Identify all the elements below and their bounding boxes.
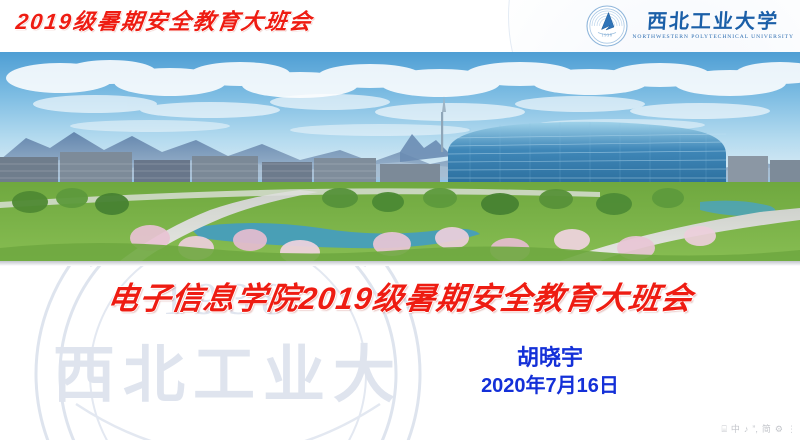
university-logo-text: 西北工业大学 NORTHWESTERN POLYTECHNICAL UNIVER… (634, 11, 792, 41)
svg-text:1938: 1938 (601, 32, 612, 37)
presentation-slide: 2019级暑期安全教育大班会 1938 西北工业大学 NORTHWESTERN … (0, 0, 800, 440)
ime-logo-icon[interactable]: ⌸ (721, 423, 726, 435)
ime-chinese-mode-icon[interactable]: 中 (731, 423, 740, 435)
ime-punctuation-icon[interactable]: ”, (752, 423, 758, 435)
svg-text:西北工业大: 西北工业大 (53, 342, 403, 410)
header-title: 2019级暑期安全教育大班会 (14, 7, 315, 37)
ime-tone-icon[interactable]: ♪ (744, 423, 749, 435)
university-name-cn: 西北工业大学 (646, 11, 780, 33)
ime-simplified-icon[interactable]: 简 (762, 423, 771, 435)
campus-panorama-photo (0, 52, 800, 261)
presenter-name: 胡晓宇 (400, 344, 700, 372)
slide-header: 2019级暑期安全教育大班会 1938 西北工业大学 NORTHWESTERN … (0, 0, 800, 52)
nwpu-seal-emblem-icon: 1938 (586, 5, 628, 47)
ime-settings-icon[interactable]: ⚙ (775, 423, 783, 435)
ime-menu-icon[interactable]: ⋮ (787, 423, 796, 435)
university-name-en: NORTHWESTERN POLYTECHNICAL UNIVERSITY (632, 33, 794, 41)
main-slide-title: 电子信息学院2019级暑期安全教育大班会 (0, 278, 800, 320)
ime-language-bar[interactable]: ⌸ 中 ♪ ”, 简 ⚙ ⋮ (721, 423, 796, 435)
presentation-date: 2020年7月16日 (400, 373, 700, 399)
university-logo: 1938 西北工业大学 NORTHWESTERN POLYTECHNICAL U… (586, 4, 792, 48)
